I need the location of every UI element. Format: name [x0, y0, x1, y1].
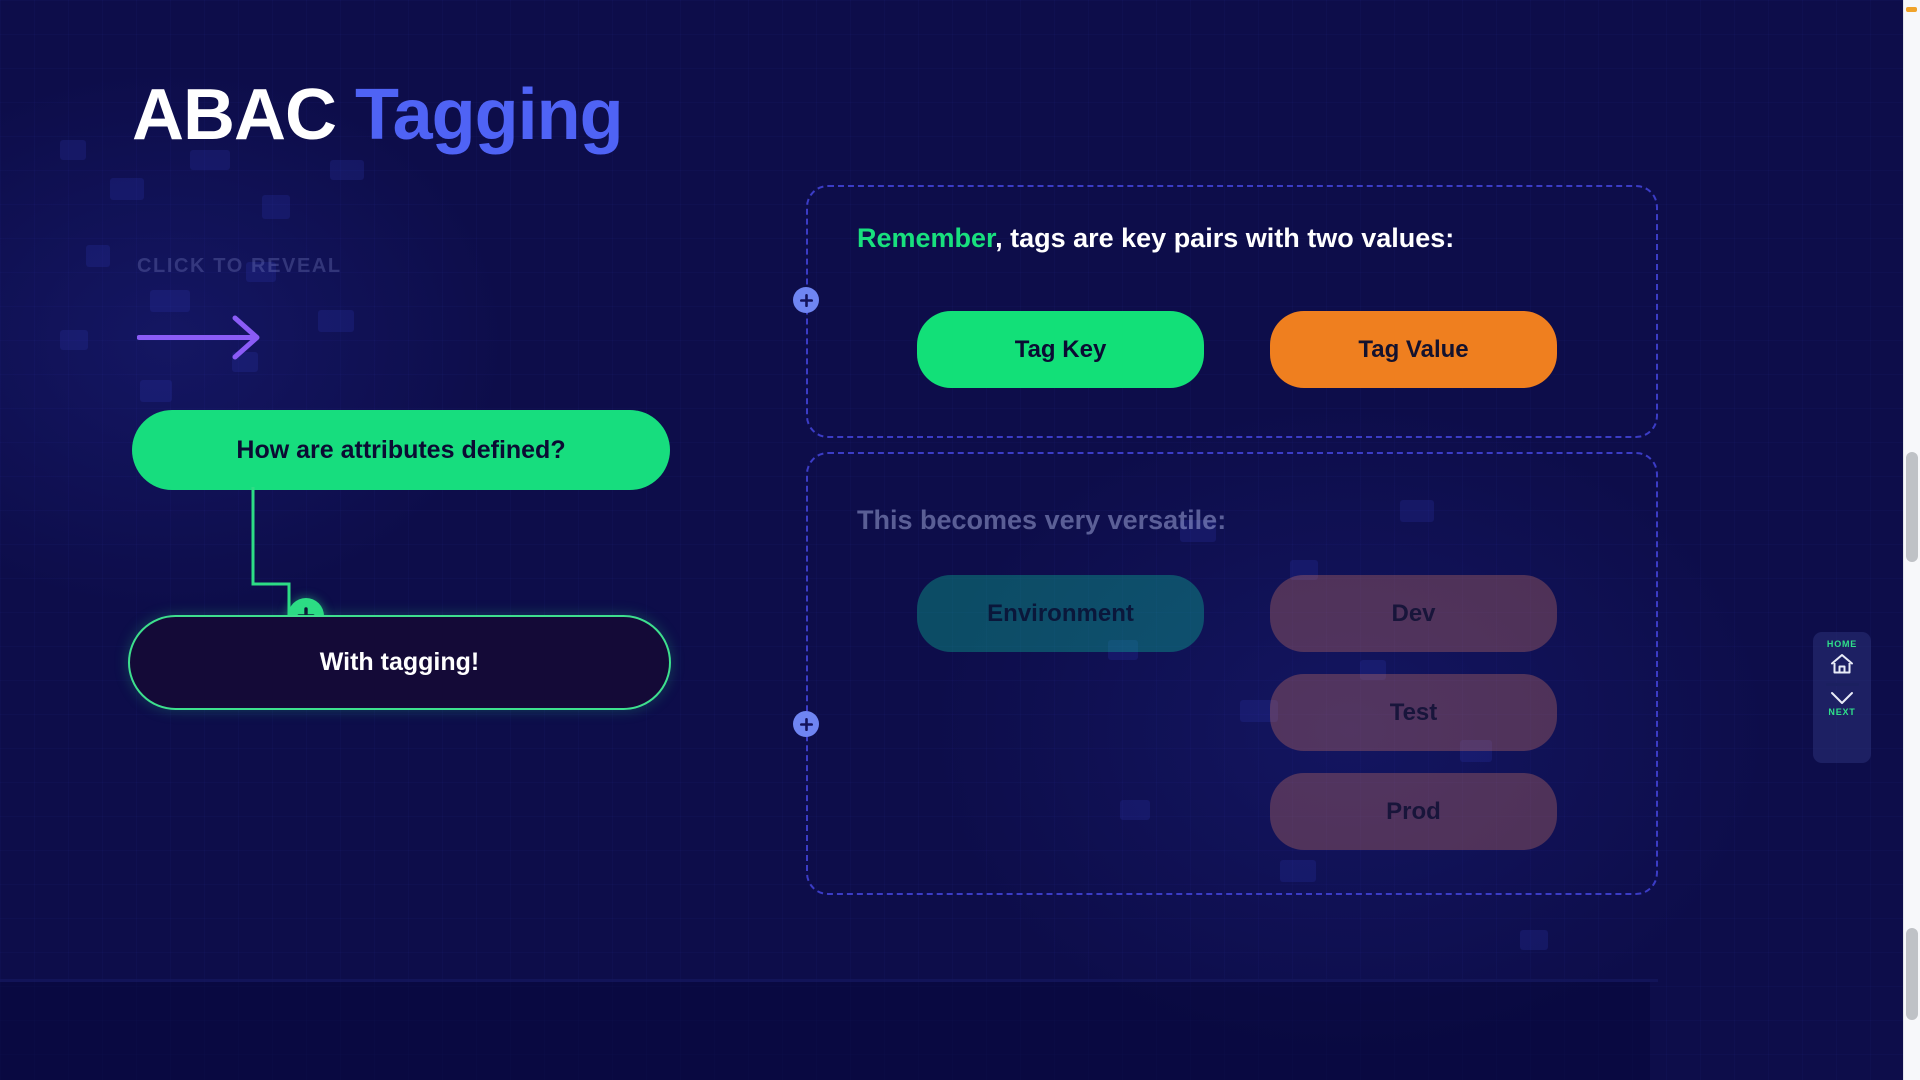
page-scrollbar[interactable]	[1903, 0, 1920, 1080]
scrollbar-thumb-secondary[interactable]	[1906, 928, 1918, 1020]
card-remember-heading-accent: Remember	[857, 223, 995, 253]
home-icon[interactable]	[1829, 652, 1855, 676]
answer-pill[interactable]: With tagging!	[128, 615, 671, 710]
tag-key-pill[interactable]: Tag Key	[917, 311, 1204, 388]
nav-home-label: HOME	[1827, 639, 1857, 649]
chevron-down-icon[interactable]	[1829, 690, 1855, 706]
question-pill[interactable]: How are attributes defined?	[132, 410, 670, 490]
plus-circle-icon[interactable]	[793, 287, 819, 313]
card-versatile-heading: This becomes very versatile:	[857, 505, 1226, 536]
card-remember: Remember, tags are key pairs with two va…	[806, 185, 1658, 438]
test-pill[interactable]: Test	[1270, 674, 1557, 751]
nav-next-label: NEXT	[1828, 707, 1855, 717]
plus-circle-icon[interactable]	[793, 711, 819, 737]
page-title: ABAC Tagging	[132, 78, 623, 154]
card-versatile: This becomes very versatile: Environment…	[806, 452, 1658, 895]
arrow-right-icon	[137, 315, 272, 360]
environment-pill[interactable]: Environment	[917, 575, 1204, 652]
bottom-shade	[0, 982, 1650, 1080]
slide-canvas: ABAC Tagging CLICK TO REVEAL How are att…	[0, 0, 1920, 1080]
scrollbar-thumb[interactable]	[1906, 452, 1918, 562]
nav-divider	[1826, 683, 1859, 686]
card-remember-heading-rest: , tags are key pairs with two values:	[995, 223, 1454, 253]
prod-pill[interactable]: Prod	[1270, 773, 1557, 850]
page-title-secondary: Tagging	[355, 75, 623, 155]
page-title-primary: ABAC	[132, 75, 336, 155]
card-remember-heading: Remember, tags are key pairs with two va…	[857, 223, 1454, 254]
dev-pill[interactable]: Dev	[1270, 575, 1557, 652]
tag-value-pill[interactable]: Tag Value	[1270, 311, 1557, 388]
bottom-divider	[0, 979, 1658, 982]
click-to-reveal-hint: CLICK TO REVEAL	[137, 255, 342, 278]
scrollbar-marker	[1906, 7, 1917, 12]
navigation-widget[interactable]: HOME NEXT	[1813, 632, 1871, 763]
